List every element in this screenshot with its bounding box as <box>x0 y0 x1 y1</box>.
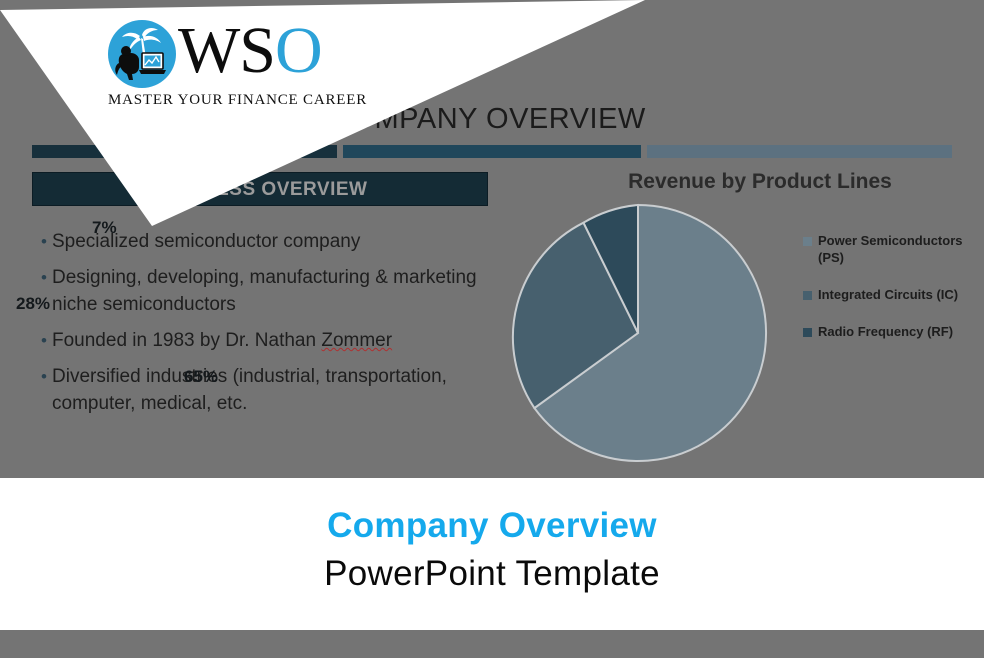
screenshot-root: COMPANY OVERVIEW BUSINESS OVERVIEW • Spe… <box>0 0 984 658</box>
bullet-text: Founded in 1983 by Dr. Nathan Zommer <box>52 327 501 354</box>
legend-label: Power Semiconductors (PS) <box>818 232 983 266</box>
pie-chart <box>508 203 778 463</box>
footer-bar <box>0 630 984 658</box>
wso-wordmark: WSO <box>178 12 322 90</box>
pie-data-label-ps: 65% <box>184 367 218 387</box>
wso-monkey-palm-laptop-icon <box>106 18 178 90</box>
caption-block: Company Overview PowerPoint Template <box>0 478 984 630</box>
pie-data-label-ic: 28% <box>16 294 50 314</box>
bullet-text: Designing, developing, manufacturing & m… <box>52 264 501 318</box>
bullet-text-prefix: Founded in 1983 by Dr. Nathan <box>52 330 321 351</box>
bullet-dot-icon: • <box>36 363 52 390</box>
decorative-rule-dark <box>32 145 337 158</box>
pie-data-label-rf: 7% <box>92 218 117 238</box>
misspelled-word: Zommer <box>321 330 392 351</box>
list-item: • Designing, developing, manufacturing &… <box>36 264 501 318</box>
legend-label: Radio Frequency (RF) <box>818 323 983 340</box>
wso-letter-o: O <box>275 14 322 87</box>
bullet-text: Specialized semiconductor company <box>52 228 501 255</box>
pie-chart-svg <box>508 203 768 463</box>
decorative-rule-light <box>647 145 952 158</box>
decorative-rule-medium <box>343 145 641 158</box>
legend-label: Integrated Circuits (IC) <box>818 286 983 303</box>
section-banner: BUSINESS OVERVIEW <box>32 172 488 206</box>
legend-swatch-icon <box>803 328 812 337</box>
page-title: COMPANY OVERVIEW <box>330 103 646 136</box>
legend-item-ic: Integrated Circuits (IC) <box>803 286 983 303</box>
caption-primary-title: Company Overview <box>0 506 984 546</box>
wso-tagline: MASTER YOUR FINANCE CAREER <box>108 92 367 109</box>
wso-logo: WSO MASTER YOUR FINANCE CAREER <box>106 16 361 110</box>
bullet-dot-icon: • <box>36 228 52 255</box>
caption-secondary-title: PowerPoint Template <box>0 554 984 594</box>
chart-legend: Power Semiconductors (PS) Integrated Cir… <box>803 232 983 360</box>
slide-canvas: COMPANY OVERVIEW BUSINESS OVERVIEW • Spe… <box>0 0 984 478</box>
bullet-text: Diversified industries (industrial, tran… <box>52 363 501 417</box>
list-item: • Founded in 1983 by Dr. Nathan Zommer <box>36 327 501 354</box>
legend-item-ps: Power Semiconductors (PS) <box>803 232 983 266</box>
bullet-dot-icon: • <box>36 264 52 291</box>
bullet-list: • Specialized semiconductor company • De… <box>36 228 501 426</box>
legend-swatch-icon <box>803 291 812 300</box>
wso-letters-ws: WS <box>178 14 275 87</box>
list-item: • Diversified industries (industrial, tr… <box>36 363 501 417</box>
bullet-dot-icon: • <box>36 327 52 354</box>
chart-title: Revenue by Product Lines <box>560 170 960 194</box>
section-banner-label: BUSINESS OVERVIEW <box>33 173 489 207</box>
legend-swatch-icon <box>803 237 812 246</box>
legend-item-rf: Radio Frequency (RF) <box>803 323 983 340</box>
